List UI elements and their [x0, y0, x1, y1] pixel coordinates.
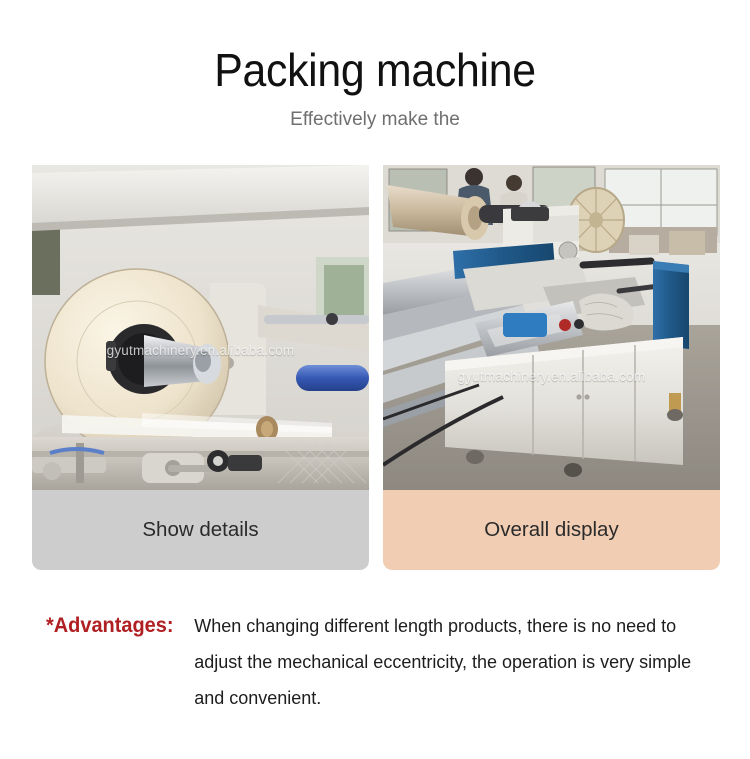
card-caption-show-details[interactable]: Show details [32, 490, 369, 570]
page-title: Packing machine [26, 44, 724, 96]
photo-overall-display: gyutmachinery.en.alibaba.com [383, 165, 720, 490]
photo-show-details: gyutmachinery.en.alibaba.com [32, 165, 369, 490]
advantages-section: *Advantages: When changing different len… [46, 608, 714, 716]
advantages-text: When changing different length products,… [194, 608, 702, 716]
image-cards-row: gyutmachinery.en.alibaba.com Show detail… [32, 165, 720, 570]
machine-closeup-illustration [32, 165, 369, 490]
card-overall-display[interactable]: gyutmachinery.en.alibaba.com Overall dis… [383, 165, 720, 570]
page-subtitle: Effectively make the [0, 108, 750, 132]
card-show-details[interactable]: gyutmachinery.en.alibaba.com Show detail… [32, 165, 369, 570]
advantages-label: *Advantages: [46, 608, 187, 644]
page-header: Packing machine Effectively make the [0, 0, 750, 132]
machine-overview-illustration [383, 165, 720, 490]
card-caption-overall-display[interactable]: Overall display [383, 490, 720, 570]
